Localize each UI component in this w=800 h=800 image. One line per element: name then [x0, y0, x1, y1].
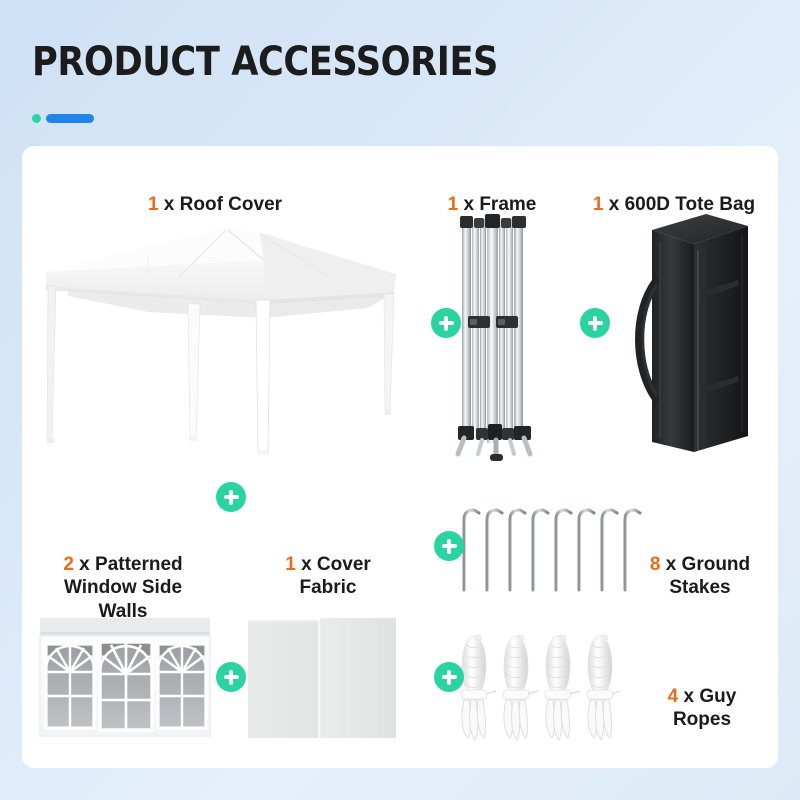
- item-sep-cover-fabric: x: [296, 554, 317, 575]
- plus-badge-roof-to-frame: [431, 308, 461, 338]
- item-label-guy-ropes: 4 x Guy Ropes: [626, 662, 778, 732]
- item-sep-side-walls: x: [74, 554, 95, 575]
- header: PRODUCT ACCESSORIES: [32, 42, 562, 82]
- plus-badge-walls-to-fabric: [216, 662, 246, 692]
- canopy-gazebo-image: [28, 208, 410, 474]
- item-qty-cover-fabric: 1: [285, 554, 296, 575]
- item-label-cover-fabric: 1 x Cover Fabric: [238, 530, 418, 600]
- product-accessories-page: PRODUCT ACCESSORIES 1 x Roof Cover 1 x F…: [0, 0, 800, 800]
- accessories-card: 1 x Roof Cover 1 x Frame 1 x 600D Tote B…: [22, 146, 778, 768]
- item-name-ground-stakes: Ground Stakes: [669, 554, 750, 598]
- window-side-wall-image: [32, 614, 218, 742]
- ground-stakes-image: [458, 502, 648, 596]
- item-qty-ground-stakes: 8: [650, 554, 661, 575]
- page-title: PRODUCT ACCESSORIES: [32, 42, 498, 82]
- folded-frame-image: [444, 204, 548, 466]
- item-sep-ground-stakes: x: [660, 554, 681, 575]
- accent-dot-icon: [32, 114, 41, 123]
- guy-ropes-image: [452, 632, 628, 756]
- plus-badge-fabric-to-stakes: [434, 531, 464, 561]
- item-sep-guy-ropes: x: [678, 686, 699, 707]
- black-tote-bag-image: [630, 206, 766, 462]
- plus-badge-roof-to-walls: [216, 482, 246, 512]
- title-accent-underline: [32, 114, 94, 123]
- plus-badge-fabric-to-ropes: [434, 662, 464, 692]
- item-qty-guy-ropes: 4: [668, 686, 679, 707]
- item-qty-side-walls: 2: [63, 554, 74, 575]
- item-sep-tote-bag: x: [603, 194, 624, 215]
- plus-badge-frame-to-bag: [580, 308, 610, 338]
- item-label-side-walls: 2 x Patterned Window Side Walls: [28, 530, 218, 623]
- item-qty-tote-bag: 1: [593, 194, 604, 215]
- accent-bar-icon: [46, 114, 94, 123]
- cover-fabric-image: [246, 616, 398, 742]
